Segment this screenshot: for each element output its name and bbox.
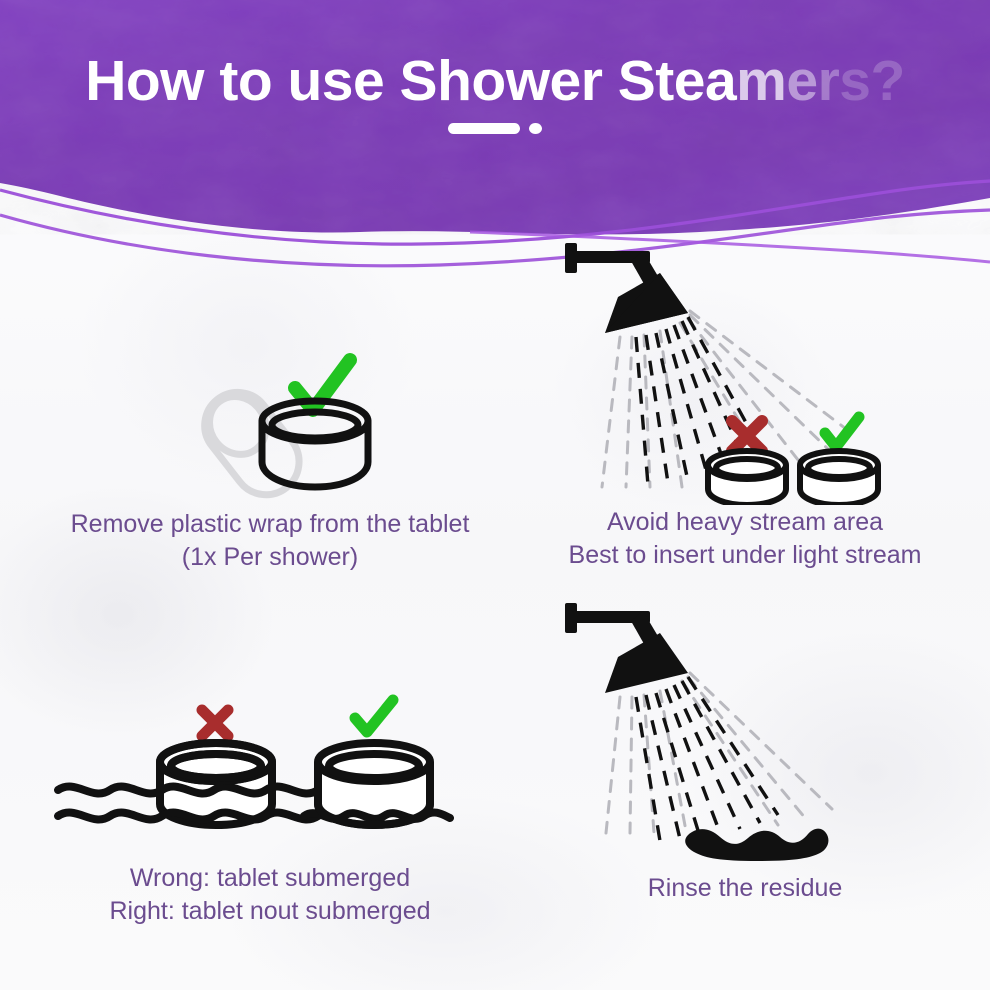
caption-line: Wrong: tablet submerged bbox=[30, 862, 510, 895]
page-title-fade-4: s? bbox=[839, 49, 905, 113]
check-icon bbox=[355, 700, 393, 732]
tablet-left-icon bbox=[708, 451, 786, 505]
caption-line: Right: tablet nout submerged bbox=[30, 895, 510, 928]
caption-line: (1x Per shower) bbox=[30, 541, 510, 574]
page-title-solid: How to use Shower Stea bbox=[85, 49, 736, 113]
panel-remove-wrap: Remove plastic wrap from the tablet (1x … bbox=[30, 340, 510, 590]
panel-submerged: Wrong: tablet submerged Right: tablet no… bbox=[30, 670, 510, 930]
caption-line: Rinse the residue bbox=[510, 872, 980, 905]
cross-icon bbox=[732, 421, 762, 451]
caption-line: Best to insert under light stream bbox=[510, 539, 980, 572]
panel-avoid-heavy-stream: Avoid heavy stream area Best to insert u… bbox=[510, 225, 980, 585]
rinse-residue-illustration bbox=[510, 585, 980, 875]
tablet-icon bbox=[262, 401, 368, 487]
infographic-page: How to use Shower Steamers? Remove bbox=[0, 0, 990, 990]
page-title: How to use Shower Steamers? bbox=[0, 48, 990, 114]
divider-bar bbox=[448, 123, 520, 134]
avoid-heavy-stream-illustration bbox=[510, 225, 980, 505]
caption-avoid-heavy-stream: Avoid heavy stream area Best to insert u… bbox=[510, 506, 980, 572]
shower-head-icon bbox=[565, 243, 688, 333]
remove-wrap-illustration bbox=[30, 340, 510, 510]
water-stream-light bbox=[606, 673, 832, 833]
check-icon bbox=[825, 417, 859, 447]
tablet-right-icon bbox=[800, 451, 878, 505]
caption-line: Avoid heavy stream area bbox=[510, 506, 980, 539]
shower-head-icon bbox=[565, 603, 688, 693]
caption-remove-wrap: Remove plastic wrap from the tablet (1x … bbox=[30, 508, 510, 574]
caption-line: Remove plastic wrap from the tablet bbox=[30, 508, 510, 541]
page-title-fade-3: r bbox=[818, 49, 840, 113]
submerged-illustration bbox=[30, 670, 510, 855]
page-title-fade-2: e bbox=[786, 49, 817, 113]
page-title-fade-1: m bbox=[736, 49, 786, 113]
divider-dot bbox=[529, 123, 542, 134]
panel-rinse-residue: Rinse the residue bbox=[510, 585, 980, 925]
tablet-not-submerged-icon bbox=[318, 743, 430, 825]
caption-submerged: Wrong: tablet submerged Right: tablet no… bbox=[30, 862, 510, 928]
cross-icon bbox=[202, 710, 228, 736]
residue-puddle-icon bbox=[685, 829, 828, 861]
title-divider bbox=[0, 123, 990, 134]
caption-rinse-residue: Rinse the residue bbox=[510, 872, 980, 905]
